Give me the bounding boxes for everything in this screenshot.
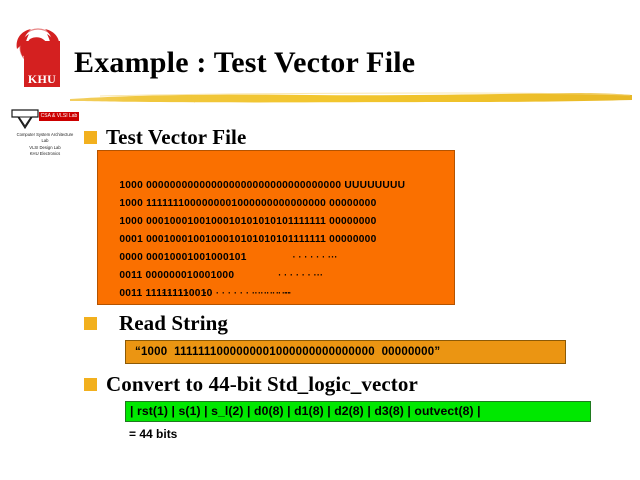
code-line: 1000 000000000000000000000000000000000 U… [107, 158, 454, 176]
code-line-dots: · · · · · · ··· [234, 270, 323, 280]
khu-logo-text: KHU [24, 71, 60, 87]
bullet-test-vector-file: Test Vector File [84, 125, 246, 149]
khu-university-logo: KHU [13, 27, 63, 89]
vector-field-list: | rst(1) | s(1) | s_l(2) | d0(8) | d1(8)… [130, 404, 481, 419]
bullet-convert-to-std-logic-vector: Convert to 44-bit Std_logic_vector [84, 372, 418, 396]
bullet-label: Read String [119, 311, 228, 335]
lab-mark-icon [10, 108, 40, 130]
read-string-value-box: “1000 1111111000000001000000000000000 00… [125, 340, 566, 364]
page-title: Example : Test Vector File [74, 44, 574, 82]
square-bullet-icon [84, 317, 97, 330]
code-line-text: 0011 000000010001000 [119, 270, 234, 281]
code-line-text: 1000 1111111000000001000000000000000 000… [119, 198, 376, 209]
bullet-label: Convert to 44-bit Std_logic_vector [106, 372, 418, 396]
bullet-read-string: Read String [84, 311, 228, 335]
title-brushstroke [70, 92, 632, 103]
code-line-text: 1000 000000000000000000000000000000000 U… [119, 180, 405, 191]
code-line-text: 0001 0001000100100010101010101111111 000… [119, 234, 376, 245]
test-vector-file-listing: 1000 000000000000000000000000000000000 U… [97, 150, 455, 305]
lab-logo-line-4: KHU Electronics [8, 151, 82, 157]
code-line-text: 0000 00010001001000101 [119, 252, 246, 263]
bit-count-note: = 44 bits [129, 427, 177, 442]
square-bullet-icon [84, 378, 97, 391]
code-line-text: 1000 0001000100100010101010101111111 000… [119, 216, 376, 227]
square-bullet-icon [84, 131, 97, 144]
bullet-label: Test Vector File [106, 125, 246, 149]
lab-logo: CSA & VLSI Lab Computer System Architect… [8, 108, 82, 160]
code-line-dots: · · · · · · ··· [247, 252, 338, 262]
lab-logo-lines: Computer System Architecture Lab VLSI De… [8, 132, 82, 158]
read-string-value: “1000 1111111000000001000000000000000 00… [135, 345, 440, 359]
std-logic-vector-field-map: | rst(1) | s(1) | s_l(2) | d0(8) | d1(8)… [125, 401, 591, 422]
lab-logo-tag: CSA & VLSI Lab [39, 112, 79, 121]
